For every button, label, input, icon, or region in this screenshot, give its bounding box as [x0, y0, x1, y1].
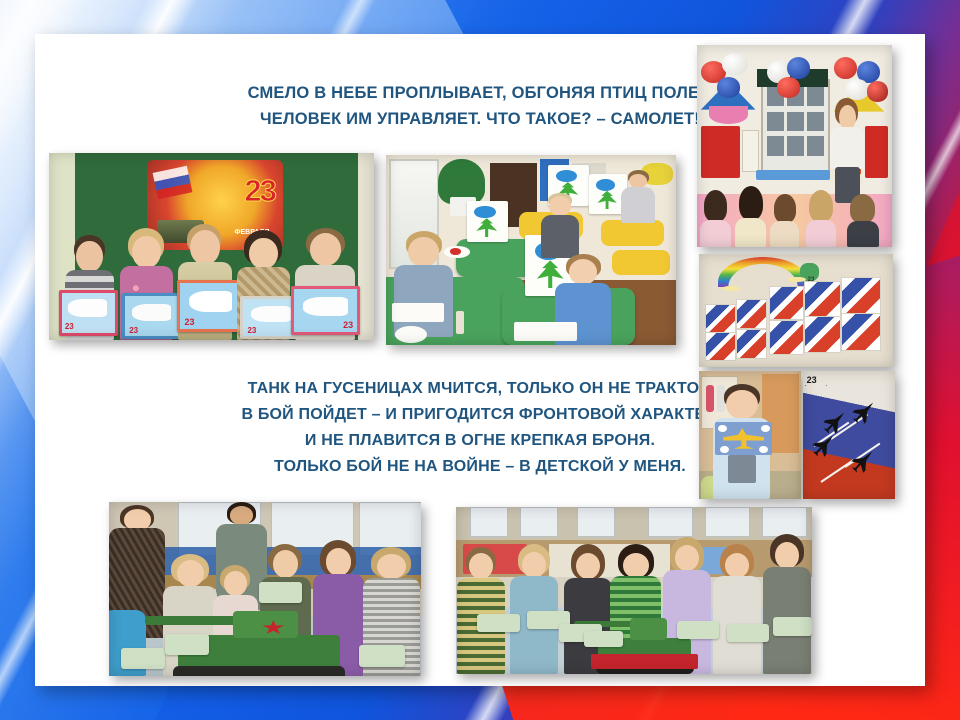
photo-flag-with-planes-artwork: 23 [803, 371, 895, 499]
photo-kids-with-plane-drawings: 23 ФЕВРАЛЯ 23 23 [49, 153, 374, 340]
slide-card: СМЕЛО В НЕБЕ ПРОПЛЫВАЕТ, ОБГОНЯЯ ПТИЦ ПО… [35, 34, 925, 686]
photo-teacher-presentation [697, 45, 892, 247]
poem-line-text: СМЕЛО В НЕБЕ ПРОПЛЫВАЕТ, ОБГОНЯЯ ПТИЦ ПО… [248, 84, 713, 102]
poem-line-text: И НЕ ПЛАВИТСЯ В ОГНЕ КРЕПКАЯ БРОНЯ. [305, 432, 655, 450]
poem-line-text: В БОЙ ПОЙДЕТ – И ПРИГОДИТСЯ ФРОНТОВОЙ ХА… [241, 406, 718, 424]
photo-classroom-craft [386, 155, 676, 345]
photo-boy-with-plane-craft [699, 371, 801, 499]
poem-line-text: ТОЛЬКО БОЙ НЕ НА ВОЙНЕ – В ДЕТСКОЙ У МЕН… [274, 458, 686, 476]
poem-line-text: ТАНК НА ГУСЕНИЦАХ МЧИТСЯ, ТОЛЬКО ОН НЕ Т… [248, 380, 713, 398]
poem-line-text: ЧЕЛОВЕК ИМ УПРАВЛЯЕТ. ЧТО ТАКОЕ? – САМОЛ… [260, 110, 700, 128]
photo-children-with-tank-crafts [456, 507, 812, 674]
photo-wall-display: 23 [699, 254, 893, 367]
photo-children-with-large-tank [109, 502, 421, 676]
